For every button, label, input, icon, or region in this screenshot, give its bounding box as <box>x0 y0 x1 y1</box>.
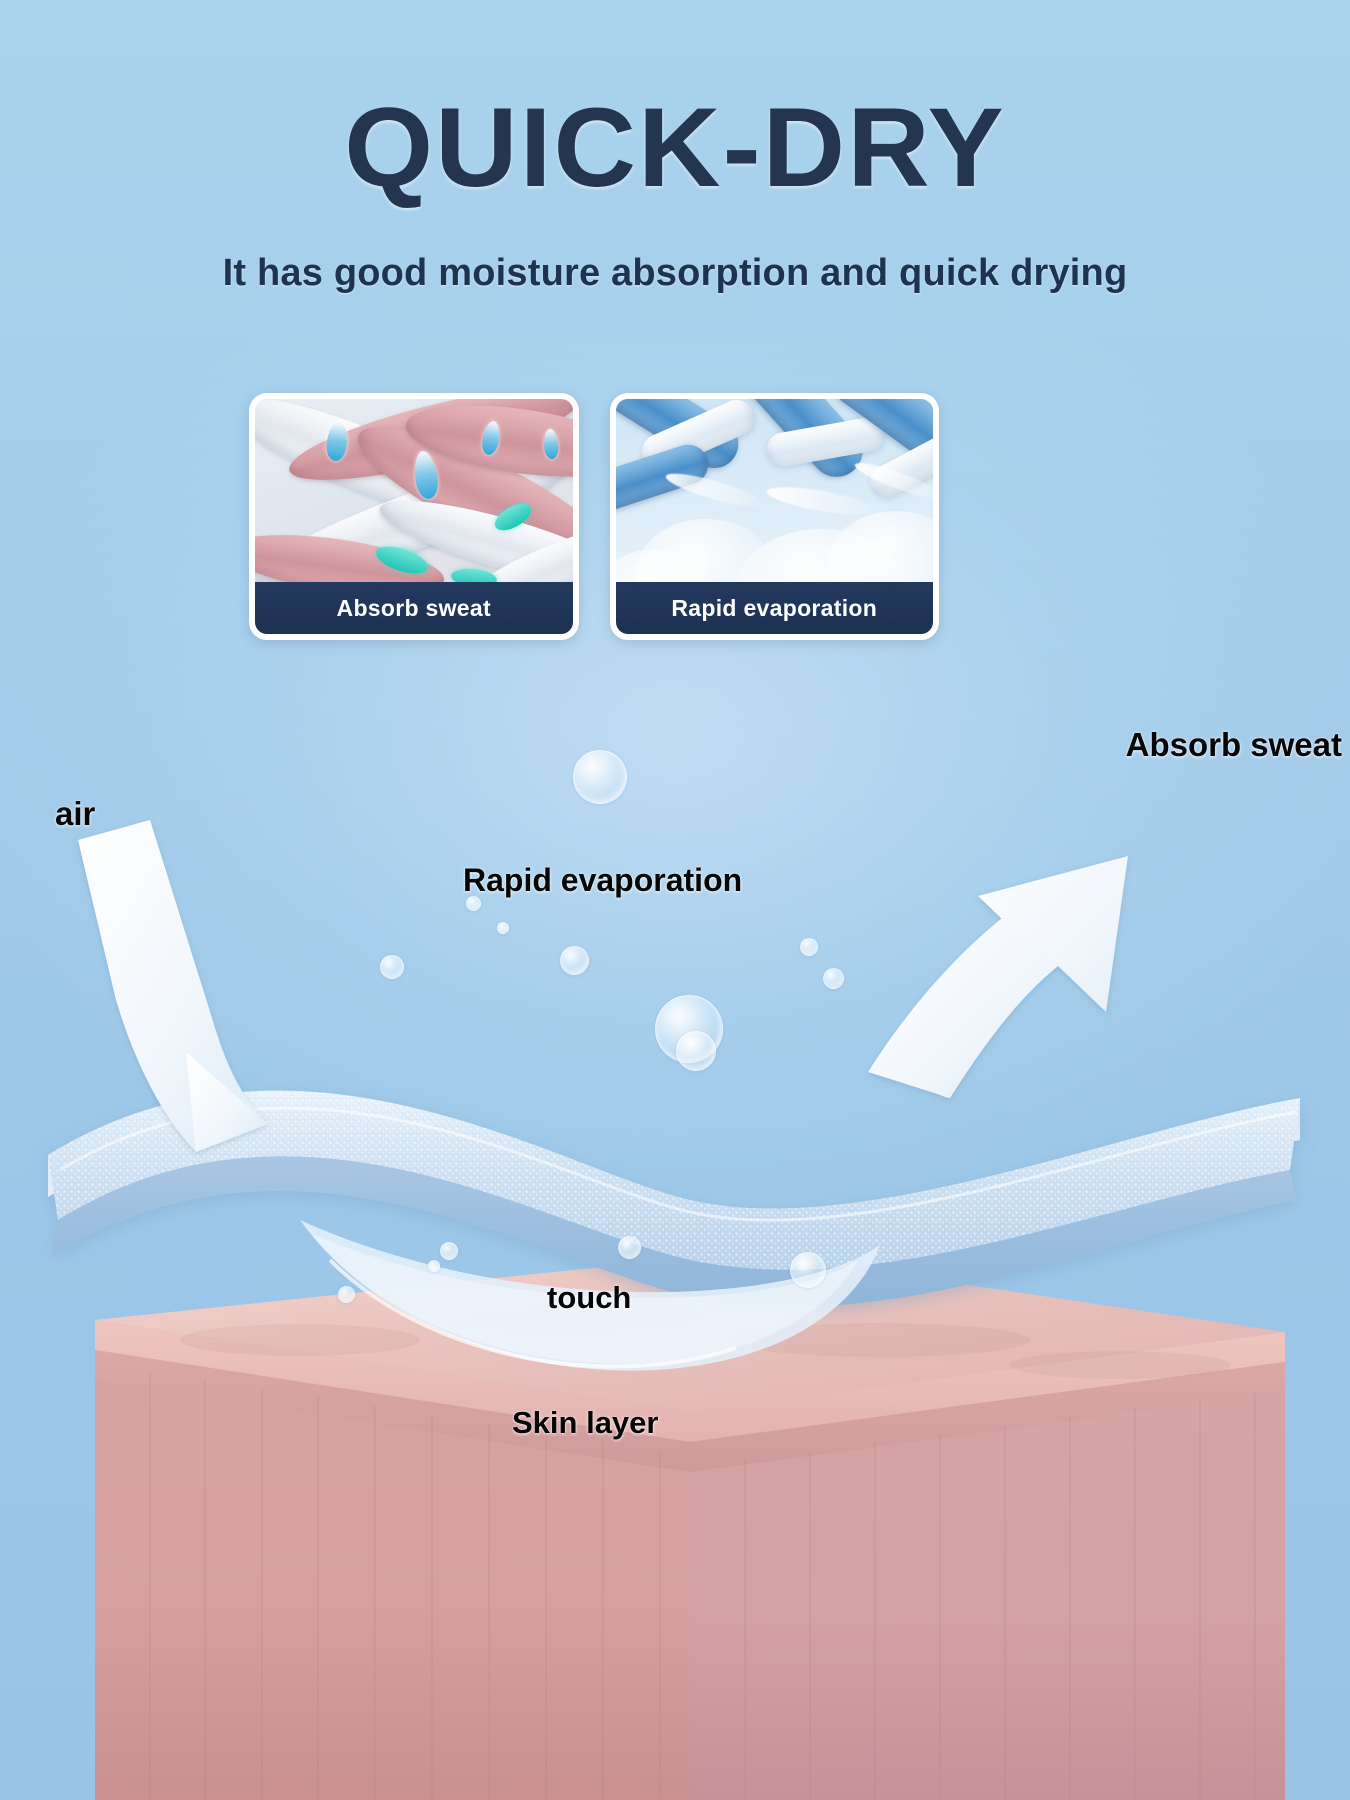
label-air: air <box>55 795 95 833</box>
water-bubble <box>497 922 509 934</box>
water-bubble <box>560 946 589 975</box>
card-caption-rapid-evaporation: Rapid evaporation <box>616 582 934 634</box>
sweat-outflow-arrow <box>868 856 1128 1098</box>
card-caption-absorb-sweat: Absorb sweat <box>255 582 573 634</box>
water-bubble <box>618 1236 641 1259</box>
feature-card-row: Absorb sweat <box>249 393 939 640</box>
fabric-skin-cross-section-diagram: Absorb sweat air Rapid evaporation touch… <box>0 700 1350 1800</box>
water-bubble <box>676 1031 716 1071</box>
label-touch: touch <box>547 1280 631 1316</box>
label-absorb-sweat: Absorb sweat <box>1126 726 1342 764</box>
page-title: QUICK-DRY <box>0 92 1350 204</box>
water-bubble <box>380 955 404 979</box>
label-rapid-evaporation: Rapid evaporation <box>463 862 742 899</box>
card-absorb-sweat[interactable]: Absorb sweat <box>249 393 579 640</box>
water-bubble <box>440 1242 458 1260</box>
water-bubble <box>790 1252 826 1288</box>
air-inflow-arrow <box>78 820 268 1152</box>
water-bubble <box>338 1286 355 1303</box>
water-bubble <box>428 1260 440 1272</box>
water-bubble <box>573 750 627 804</box>
page-subtitle: It has good moisture absorption and quic… <box>0 252 1350 295</box>
quick-dry-infographic: QUICK-DRY It has good moisture absorptio… <box>0 0 1350 1800</box>
label-skin-layer: Skin layer <box>512 1405 658 1441</box>
water-bubble <box>800 938 818 956</box>
water-bubble <box>823 968 844 989</box>
card-rapid-evaporation[interactable]: Rapid evaporation <box>610 393 940 640</box>
